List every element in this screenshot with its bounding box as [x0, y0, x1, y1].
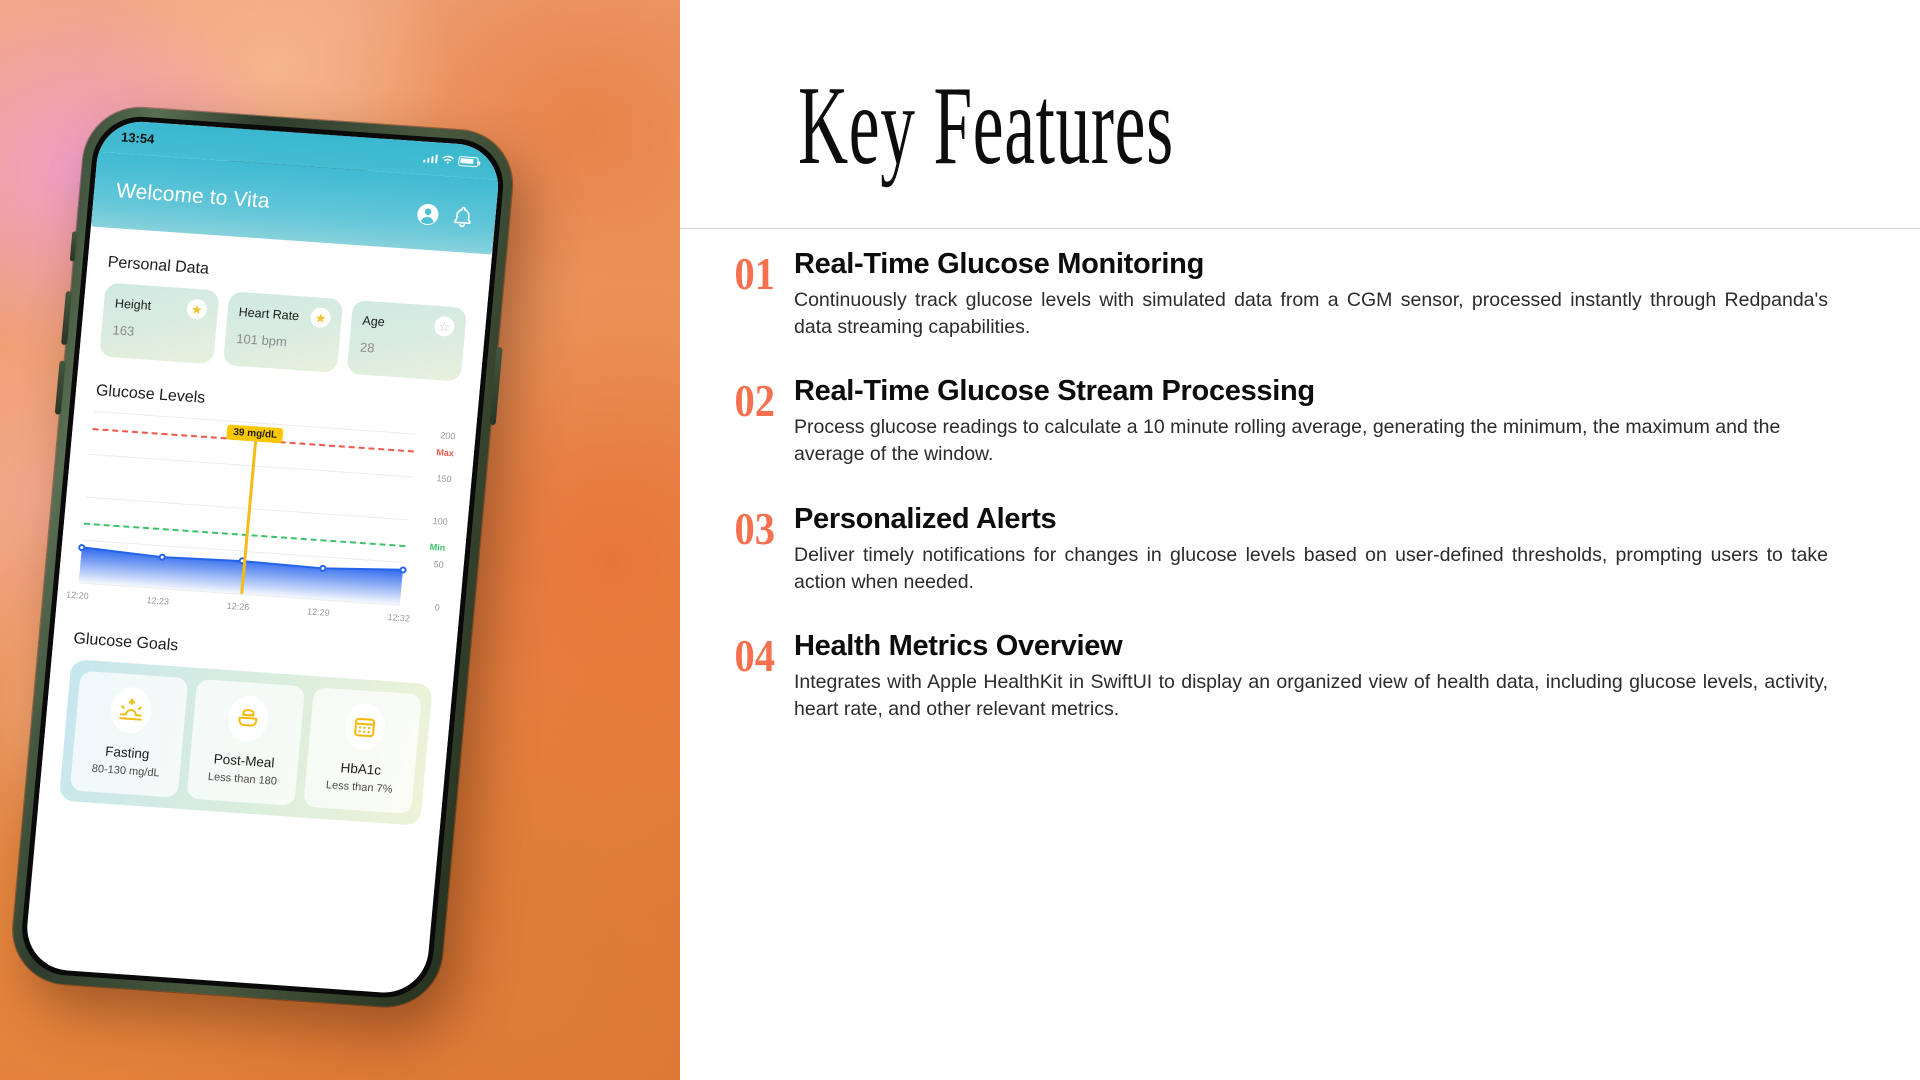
bell-icon[interactable]	[451, 205, 474, 229]
chart-x-tick-label: 12:32	[387, 612, 410, 624]
chart-threshold-label-max: Max	[436, 447, 454, 458]
feature-heading: Real-Time Glucose Stream Processing	[794, 375, 1828, 408]
goal-name: Fasting	[82, 742, 173, 763]
header-icon-group	[415, 200, 474, 229]
feature-heading: Health Metrics Overview	[794, 630, 1828, 663]
card-label: Age	[362, 314, 385, 329]
glucose-goals-section: Glucose Goals	[58, 630, 436, 836]
signal-bars-icon	[423, 154, 438, 164]
coffee-cup-icon	[226, 694, 270, 743]
glucose-chart[interactable]: 050100150200MaxMin 12:2012:2312:2612:291…	[76, 411, 455, 631]
feature-item: 02Real-Time Glucose Stream ProcessingPro…	[680, 375, 1920, 467]
card-top: Height ★	[114, 293, 208, 319]
slide-root: 13:54 Welcome to	[0, 0, 1920, 1080]
chart-x-tick-label: 12:26	[226, 601, 249, 613]
calendar-icon	[343, 702, 387, 751]
chart-x-tick-label: 12:23	[146, 595, 169, 607]
card-value: 163	[112, 322, 205, 343]
person-circle-icon[interactable]	[415, 202, 440, 227]
chart-y-tick-label: 200	[440, 430, 456, 441]
phone-showcase-panel: 13:54 Welcome to	[0, 0, 680, 1080]
feature-item: 01Real-Time Glucose MonitoringContinuous…	[680, 248, 1920, 340]
status-bar-indicators	[423, 153, 479, 167]
status-bar-time: 13:54	[120, 129, 155, 146]
phone-bezel: 13:54 Welcome to	[18, 114, 507, 1001]
goal-name: HbA1c	[315, 758, 406, 779]
page-title: Key Features	[798, 70, 1174, 182]
phone-screen: 13:54 Welcome to	[23, 119, 501, 996]
feature-body: Personalized AlertsDeliver timely notifi…	[794, 503, 1920, 595]
feature-description: Integrates with Apple HealthKit in Swift…	[794, 669, 1828, 722]
key-features-panel: Key Features 01Real-Time Glucose Monitor…	[680, 0, 1920, 1080]
title-divider	[680, 228, 1920, 229]
personal-data-card[interactable]: Heart Rate ★ 101 bpm	[223, 291, 343, 373]
card-value: 101 bpm	[236, 331, 329, 352]
features-list: 01Real-Time Glucose MonitoringContinuous…	[680, 248, 1920, 758]
chart-y-tick-label: 100	[432, 516, 448, 527]
card-top: Heart Rate ★	[238, 302, 332, 328]
sunrise-icon	[109, 686, 153, 735]
chart-threshold-label-min: Min	[429, 542, 445, 553]
goal-name: Post-Meal	[199, 750, 290, 771]
glucose-goals-strip: Fasting 80-130 mg/dL	[59, 659, 433, 826]
feature-heading: Personalized Alerts	[794, 503, 1828, 536]
feature-description: Deliver timely notifications for changes…	[794, 542, 1828, 595]
personal-data-card[interactable]: Age ☆ 28	[347, 300, 467, 382]
feature-item: 04Health Metrics OverviewIntegrates with…	[680, 630, 1920, 722]
card-label: Height	[114, 296, 151, 312]
chart-y-tick-label: 50	[433, 559, 444, 570]
star-filled-icon[interactable]: ★	[186, 298, 208, 319]
feature-number: 03	[680, 503, 780, 552]
feature-heading: Real-Time Glucose Monitoring	[794, 248, 1828, 281]
chart-y-tick-label: 0	[434, 602, 440, 612]
app-title: Welcome to Vita	[115, 179, 270, 214]
personal-data-card[interactable]: Height ★ 163	[99, 283, 219, 365]
feature-number: 04	[680, 630, 780, 679]
feature-description: Continuously track glucose levels with s…	[794, 287, 1828, 340]
card-top: Age ☆	[362, 311, 456, 337]
feature-number: 01	[680, 248, 780, 297]
card-label: Heart Rate	[238, 305, 300, 323]
card-value: 28	[359, 340, 452, 361]
star-filled-icon[interactable]: ★	[310, 307, 332, 328]
goal-card-fasting[interactable]: Fasting 80-130 mg/dL	[70, 671, 189, 798]
glucose-chart-section: Glucose Levels 050100150200MaxMin 12:201…	[76, 382, 458, 631]
feature-description: Process glucose readings to calculate a …	[794, 414, 1828, 467]
goal-card-post-meal[interactable]: Post-Meal Less than 180	[186, 679, 305, 806]
goal-value: Less than 7%	[314, 778, 405, 796]
chart-x-tick-label: 12:20	[66, 590, 89, 602]
feature-body: Real-Time Glucose MonitoringContinuously…	[794, 248, 1920, 340]
battery-icon	[458, 155, 479, 166]
phone-mockup: 13:54 Welcome to	[8, 104, 517, 1010]
chart-y-tick-label: 150	[436, 473, 452, 484]
goal-value: 80-130 mg/dL	[80, 762, 171, 780]
feature-body: Real-Time Glucose Stream ProcessingProce…	[794, 375, 1920, 467]
goal-card-hba1c[interactable]: HbA1c Less than 7%	[303, 687, 422, 814]
feature-body: Health Metrics OverviewIntegrates with A…	[794, 630, 1920, 722]
personal-data-row: Height ★ 163 Heart Rate ★ 101 bpm	[99, 283, 467, 382]
goal-value: Less than 180	[197, 770, 288, 788]
feature-number: 02	[680, 375, 780, 424]
star-outline-icon[interactable]: ☆	[433, 316, 455, 337]
chart-x-tick-label: 12:29	[307, 606, 330, 618]
feature-item: 03Personalized AlertsDeliver timely noti…	[680, 503, 1920, 595]
wifi-icon	[441, 154, 455, 165]
app-content: Personal Data Height ★ 163	[38, 226, 492, 837]
